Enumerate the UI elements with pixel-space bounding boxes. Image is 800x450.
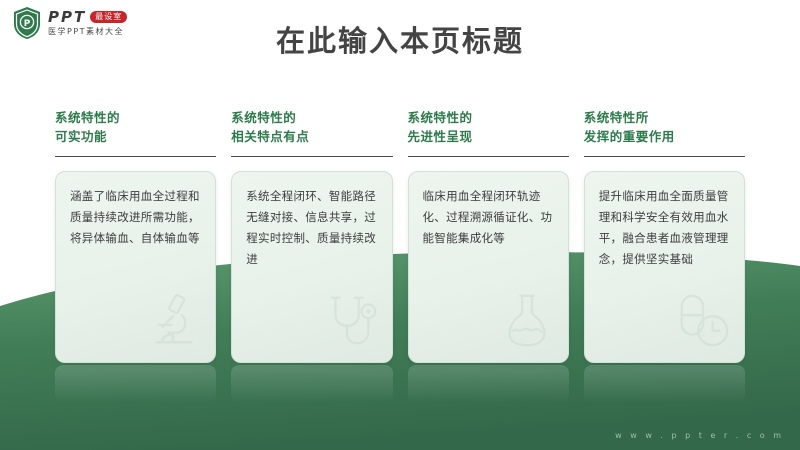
column-3-heading-line2: 先进性呈现 [408, 127, 569, 146]
column-3: 系统特性的 先进性呈现 临床用血全程闭环轨迹化、过程溯源循证化、功能智能集成化等 [408, 108, 569, 398]
columns-container: 系统特性的 可实功能 涵盖了临床用血全过程和质量持续改进所需功能，将异体输血、自… [0, 108, 800, 398]
column-1-heading-line1: 系统特性的 [55, 108, 216, 127]
column-4-card-reflection [584, 365, 745, 403]
column-1-body-text: 涵盖了临床用血全过程和质量持续改进所需功能，将异体输血、自体输血等 [70, 186, 201, 249]
column-1-divider [55, 156, 216, 157]
column-4-card[interactable]: 提升临床用血全面质量管理和科学安全有效用血水平，融合患者血液管理理念，提供坚实基… [584, 171, 745, 363]
column-3-card[interactable]: 临床用血全程闭环轨迹化、过程溯源循证化、功能智能集成化等 [408, 171, 569, 363]
column-2-divider [231, 156, 392, 157]
column-1: 系统特性的 可实功能 涵盖了临床用血全过程和质量持续改进所需功能，将异体输血、自… [55, 108, 216, 398]
column-4: 系统特性所 发挥的重要作用 提升临床用血全面质量管理和科学安全有效用血水平，融合… [584, 108, 745, 398]
slide-root: P PPT 最设室 医学PPT素材大全 在此输入本页标题 系统特性的 可实功能 … [0, 0, 800, 450]
column-4-heading-line1: 系统特性所 [584, 108, 745, 127]
column-2: 系统特性的 相关特点有点 系统全程闭环、智能路径无缝对接、信息共享，过程实时控制… [231, 108, 392, 398]
microscope-icon [143, 290, 205, 356]
column-4-body-text: 提升临床用血全面质量管理和科学安全有效用血水平，融合患者血液管理理念，提供坚实基… [599, 186, 730, 270]
column-3-heading: 系统特性的 先进性呈现 [408, 108, 569, 146]
column-3-heading-line1: 系统特性的 [408, 108, 569, 127]
column-2-heading-line2: 相关特点有点 [231, 127, 392, 146]
column-2-body-text: 系统全程闭环、智能路径无缝对接、信息共享，过程实时控制、质量持续改进 [246, 186, 377, 270]
column-2-card[interactable]: 系统全程闭环、智能路径无缝对接、信息共享，过程实时控制、质量持续改进 [231, 171, 392, 363]
column-1-heading-line2: 可实功能 [55, 127, 216, 146]
column-4-heading: 系统特性所 发挥的重要作用 [584, 108, 745, 146]
pill-clock-icon [672, 290, 734, 356]
column-2-heading-line1: 系统特性的 [231, 108, 392, 127]
column-4-heading-line2: 发挥的重要作用 [584, 127, 745, 146]
column-3-card-reflection [408, 365, 569, 403]
column-1-card[interactable]: 涵盖了临床用血全过程和质量持续改进所需功能，将异体输血、自体输血等 [55, 171, 216, 363]
column-1-heading: 系统特性的 可实功能 [55, 108, 216, 146]
column-2-card-reflection [231, 365, 392, 403]
flask-icon [496, 290, 558, 356]
stethoscope-icon [320, 290, 382, 356]
column-3-body-text: 临床用血全程闭环轨迹化、过程溯源循证化、功能智能集成化等 [423, 186, 554, 249]
page-title: 在此输入本页标题 [0, 18, 800, 60]
footer-watermark: w w w . p p t e r . c o m [615, 431, 784, 440]
column-1-card-reflection [55, 365, 216, 403]
column-2-heading: 系统特性的 相关特点有点 [231, 108, 392, 146]
column-4-divider [584, 156, 745, 157]
column-3-divider [408, 156, 569, 157]
